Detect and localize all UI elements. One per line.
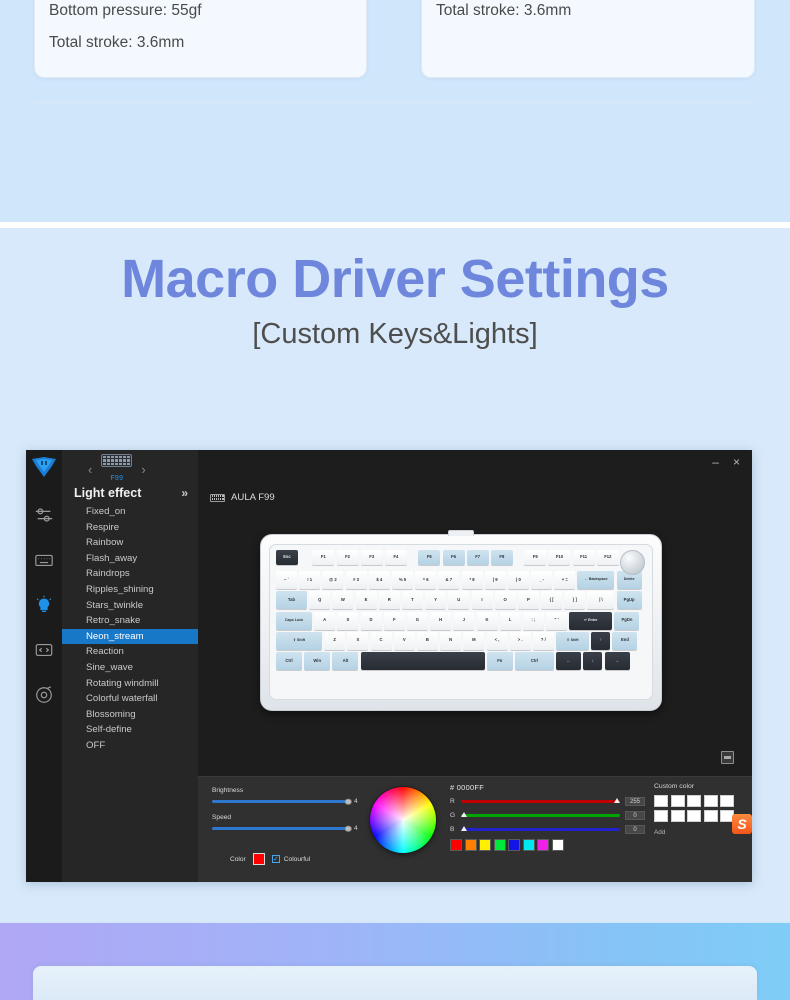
preset-swatch[interactable] [479,839,491,851]
code-icon[interactable] [29,635,59,665]
custom-color-slot[interactable] [654,810,668,822]
custom-color-slot[interactable] [687,795,701,807]
keyboard-key[interactable]: A [314,612,335,630]
effects-list: Fixed_onRespireRainbowFlash_awayRaindrop… [62,504,198,754]
effect-item[interactable]: Neon_stream [62,629,198,645]
keyboard-key[interactable]: K [477,612,498,630]
preset-swatch[interactable] [494,839,506,851]
rgb-row-r: R 255 [450,797,645,806]
keyboard-key[interactable]: Tab [276,591,307,609]
section-divider [34,102,756,103]
effect-item[interactable]: Rotating windmill [62,676,198,692]
keyboard-key[interactable]: J [453,612,474,630]
custom-color-slot[interactable] [671,795,685,807]
next-device-button[interactable]: › [141,462,145,477]
keyboard-key[interactable]: Ctrl [515,652,554,670]
spec-line: Bottom pressure: 55gf [49,0,352,27]
keyboard-row: EscF1F2F3F4F5F6F7F8F9F10F11F12 [276,550,646,565]
key-gap [300,550,310,565]
app-stage: – × AULA F99 EscF1F2F3F4F5F6F7F8F9F10F11… [198,450,752,882]
keyboard-key[interactable]: @ 2 [322,571,343,589]
effect-item[interactable]: Self-define [62,722,198,738]
b-thumb[interactable] [461,826,467,831]
custom-color-slot[interactable] [704,795,718,807]
custom-color-slot[interactable] [671,810,685,822]
keyboard-key[interactable]: P [518,591,539,609]
keyboard-key[interactable]: ← [556,652,581,670]
next-section-card [33,966,757,1000]
custom-color-slot[interactable] [654,795,668,807]
keyboard-key[interactable]: ^ 6 [415,571,436,589]
keyboard-key[interactable]: F7 [467,550,489,565]
macro-section: Macro Driver Settings [Custom Keys&Light… [0,228,790,922]
speed-value: 4 [354,825,364,832]
keyboard-icon [210,494,225,502]
effects-header: Light effect » [62,482,198,504]
preset-swatch[interactable] [552,839,564,851]
keyboard-key[interactable]: F [384,612,405,630]
brightness-value: 4 [354,798,364,805]
window-controls: – × [712,450,752,474]
keyboard-key[interactable]: & 7 [438,571,459,589]
keyboard-key[interactable]: F8 [491,550,513,565]
chevron-right-icon[interactable]: » [181,486,188,500]
keyboard-key[interactable]: C [371,632,392,650]
device-name: AULA F99 [231,492,275,503]
keyboard-key[interactable]: : ; [523,612,544,630]
key-gap [515,550,522,565]
keyboard-preview[interactable]: EscF1F2F3F4F5F6F7F8F9F10F11F12~ `! 1@ 2#… [260,534,662,711]
spec-card-left: Bottom pressure: 55gf Total stroke: 3.6m… [34,0,367,78]
keyboard-key[interactable]: F4 [385,550,407,565]
r-value[interactable]: 255 [625,797,645,806]
g-label: G [450,812,456,819]
keyboard-badge [448,530,474,536]
keyboard-key[interactable]: F11 [573,550,595,565]
effect-item[interactable]: Flash_away [62,551,198,567]
keyboard-key[interactable]: ⇧ Shift [556,632,589,650]
keyboard-key[interactable]: Caps Lock [276,612,312,630]
keyboard-key[interactable]: Fn [487,652,513,670]
prev-device-button[interactable]: ‹ [88,462,92,477]
preset-swatch[interactable] [450,839,462,851]
keyboard-icon [101,454,132,467]
keyboard-row: TabQWERTYUIOP{ [} ]| \PgUp [276,591,646,609]
preset-swatch[interactable] [523,839,535,851]
r-label: R [450,798,456,805]
preset-swatch[interactable] [537,839,549,851]
volume-knob[interactable] [620,550,645,575]
keyboard-key[interactable]: Alt [332,652,358,670]
keyboard-key[interactable]: F9 [524,550,546,565]
effect-item[interactable]: OFF [62,738,198,754]
b-value[interactable]: 0 [625,825,645,834]
specs-section: Bottom pressure: 55gf Total stroke: 3.6m… [0,0,790,222]
preset-swatches [450,839,645,851]
keyboard-key[interactable]: I [472,591,493,609]
logo-icon [30,456,58,478]
keyboard-key[interactable]: End [612,632,637,650]
page-title: Macro Driver Settings [0,248,790,310]
keyboard-key[interactable]: Y [425,591,446,609]
page-subtitle: [Custom Keys&Lights] [0,318,790,351]
effect-item[interactable]: Sine_wave [62,660,198,676]
keyboard-key[interactable]: F1 [312,550,334,565]
keyboard-key[interactable]: H [430,612,451,630]
keyboard-key[interactable]: O [495,591,516,609]
custom-color-grid [654,795,734,822]
driver-app-window: Light effect » Fixed_onRespireRainbowFla… [26,450,752,882]
keyboard-key[interactable]: < , [487,632,508,650]
custom-color-slot[interactable] [704,810,718,822]
device-selector-name: F99 [110,475,123,482]
close-button[interactable]: × [733,455,740,469]
keyboard-key[interactable]: T [402,591,423,609]
keyboard-key[interactable]: " ' [546,612,567,630]
effect-item[interactable]: Raindrops [62,566,198,582]
device-thumbnail[interactable]: F99 [101,454,132,485]
keyboard-key[interactable]: Q [309,591,330,609]
keyboard-key[interactable]: → [605,652,630,670]
keyboard-key[interactable]: X [347,632,368,650]
g-slider[interactable] [461,814,620,817]
rgb-panel: # 0000FF R 255 G 0 [450,783,645,851]
g-value[interactable]: 0 [625,811,645,820]
keyboard-key[interactable]: % 5 [392,571,413,589]
keyboard-key[interactable]: Win [304,652,330,670]
color-label: Color [230,856,246,863]
keyboard-key[interactable]: B [417,632,438,650]
keyboard-key[interactable]: PgUp [617,591,642,609]
effect-item[interactable]: Reaction [62,644,198,660]
keyboard-key[interactable]: Z [324,632,345,650]
preset-swatch[interactable] [508,839,520,851]
keyboard-key[interactable]: ← Backspace [577,571,614,589]
keyboard-row: ~ `! 1@ 2# 3$ 4% 5^ 6& 7* 8( 9) 0_ -+ =←… [276,571,646,589]
keyboard-key[interactable]: Esc [276,550,298,565]
speed-track[interactable] [212,827,348,829]
keyboard-key[interactable]: F10 [548,550,570,565]
keyboard-key[interactable]: F6 [443,550,465,565]
spec-line: Total stroke: 3.6mm [436,0,740,27]
keyboard-key[interactable]: ~ ` [276,571,297,589]
effect-item[interactable]: Retro_snake [62,613,198,629]
device-selector: ‹ F99 › [88,454,146,485]
speed-slider[interactable]: 4 [212,825,364,832]
keyboard-key[interactable]: N [440,632,461,650]
effect-item[interactable]: Ripples_shining [62,582,198,598]
keyboard-key[interactable]: ↵ Enter [569,612,612,630]
stage-device-label: AULA F99 [210,492,275,503]
keyboard-key[interactable]: } ] [564,591,585,609]
keyboard-key[interactable]: F12 [597,550,619,565]
keyboard-row: CtrlWinAltFnCtrl←↓→ [276,652,646,670]
effect-item[interactable]: Fixed_on [62,504,198,520]
keyboard-plate: EscF1F2F3F4F5F6F7F8F9F10F11F12~ `! 1@ 2#… [269,544,653,700]
keyboard-key[interactable]: ↑ [591,632,610,650]
current-color-chip[interactable] [253,853,265,865]
spec-card-right: Total stroke: 3.6mm [421,0,755,78]
lightbulb-icon[interactable] [29,590,59,620]
b-slider[interactable] [461,828,620,831]
icon-rail [26,450,62,882]
keyboard-key[interactable]: | \ [587,591,614,609]
keyboard-key[interactable]: ! 1 [299,571,320,589]
custom-color-slot[interactable] [687,810,701,822]
custom-color-panel: Custom color Add S [654,783,734,836]
keyboard-key[interactable]: * 8 [462,571,483,589]
brightness-knob[interactable] [345,798,352,805]
rgb-row-g: G 0 [450,811,645,820]
speed-knob[interactable] [345,825,352,832]
keyboard-key[interactable]: D [361,612,382,630]
brightness-track[interactable] [212,800,348,802]
keyboard-icon[interactable] [29,545,59,575]
r-thumb[interactable] [614,798,620,803]
spec-line: Total stroke: 3.6mm [49,27,352,59]
keyboard-key[interactable]: # 3 [346,571,367,589]
color-wheel[interactable] [370,787,436,853]
rgb-row-b: B 0 [450,825,645,834]
custom-color-slot[interactable] [720,795,734,807]
keyboard-key[interactable] [361,652,485,670]
keyboard-key[interactable]: F3 [361,550,383,565]
macro-target-icon[interactable] [29,680,59,710]
colourful-checkbox[interactable]: ✓ Colourful [272,855,310,863]
add-color-button[interactable]: Add [654,829,734,836]
effect-sliders: Brightness 4 Speed 4 [212,787,364,841]
effects-header-label: Light effect [74,486,141,500]
keyboard-key[interactable]: G [407,612,428,630]
color-row: Color ✓ Colourful [230,853,310,865]
effect-item[interactable]: Stars_twinkle [62,598,198,614]
keyboard-key[interactable]: ) 0 [508,571,529,589]
effect-item[interactable]: Respire [62,520,198,536]
keyboard-key[interactable]: L [500,612,521,630]
keyboard-key[interactable]: + = [554,571,575,589]
speed-label: Speed [212,814,364,821]
keyboard-key[interactable]: PgDn [614,612,639,630]
keyboard-key[interactable]: V [394,632,415,650]
keyboard-key[interactable]: > . [510,632,531,650]
checkbox-checked-icon[interactable]: ✓ [272,855,280,863]
brightness-slider[interactable]: 4 [212,798,364,805]
keyboard-key[interactable]: M [463,632,484,650]
keyboard-key[interactable]: W [332,591,353,609]
b-label: B [450,826,456,833]
keyboard-key[interactable]: Ctrl [276,652,302,670]
keyboard-key[interactable]: ↓ [583,652,602,670]
custom-color-label: Custom color [654,783,734,790]
keyboard-key[interactable]: U [448,591,469,609]
keyboard-key[interactable]: F5 [418,550,440,565]
keyboard-row: ⇧ ShiftZXCVBNM< ,> .? /⇧ Shift↑End [276,632,646,650]
keyboard-rows: EscF1F2F3F4F5F6F7F8F9F10F11F12~ `! 1@ 2#… [276,550,646,670]
keyboard-key[interactable]: F2 [337,550,359,565]
r-slider[interactable] [461,800,620,803]
keyboard-key[interactable]: S [337,612,358,630]
key-gap [409,550,416,565]
keyboard-row: Caps LockASDFGHJKL: ;" '↵ EnterPgDn [276,612,646,630]
minimize-button[interactable]: – [712,455,719,469]
save-disk-icon[interactable] [721,751,734,764]
keyboard-key[interactable]: E [356,591,377,609]
band-top-line [0,922,790,923]
keyboard-key[interactable]: _ - [531,571,552,589]
keyboard-key[interactable]: $ 4 [369,571,390,589]
effect-item[interactable]: Rainbow [62,535,198,551]
effect-item[interactable]: Blossoming [62,707,198,723]
keyboard-key[interactable]: R [379,591,400,609]
light-effect-panel: Light effect » Fixed_onRespireRainbowFla… [62,450,198,882]
keyboard-key[interactable]: { [ [541,591,562,609]
brightness-label: Brightness [212,787,364,794]
g-thumb[interactable] [461,812,467,817]
preset-swatch[interactable] [465,839,477,851]
keyboard-key[interactable]: ? / [533,632,554,650]
colourful-label: Colourful [284,856,310,863]
effect-item[interactable]: Colorful waterfall [62,691,198,707]
hex-value: # 0000FF [450,783,645,792]
keyboard-key[interactable]: ⇧ Shift [276,632,322,650]
controls-panel: Brightness 4 Speed 4 [198,776,752,882]
sliders-icon[interactable] [29,500,59,530]
keyboard-key[interactable]: ( 9 [485,571,506,589]
brand-logo-icon: S [732,814,752,834]
